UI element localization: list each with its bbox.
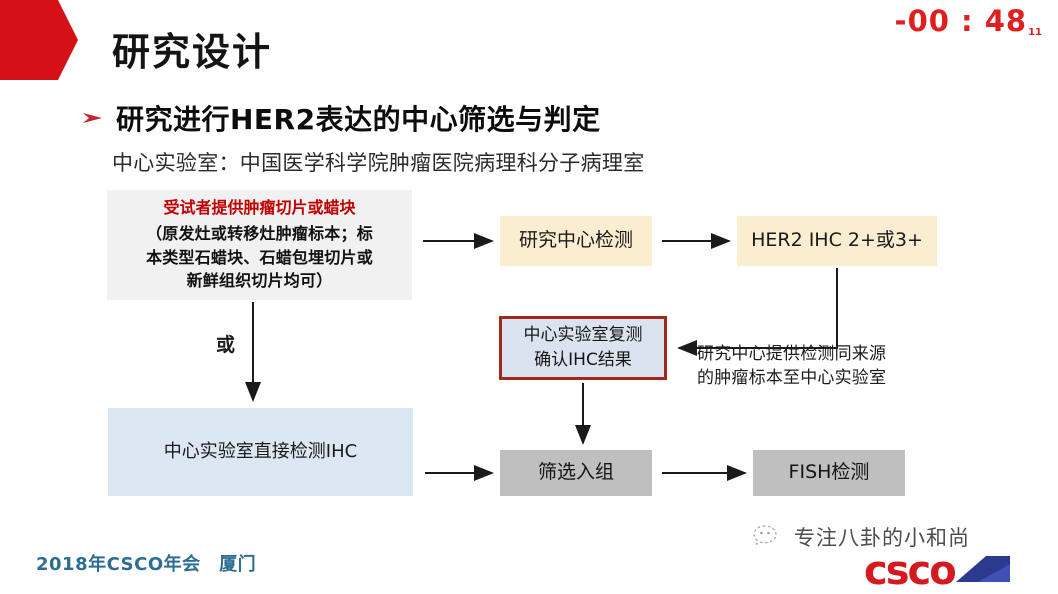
center-testing-label: 研究中心检测 [519, 227, 633, 255]
box-sample-provision: 受试者提供肿瘤切片或蜡块 （原发灶或转移灶肿瘤标本；标 本类型石蜡块、石蜡包埋切… [107, 190, 412, 300]
annotation-line2: 的肿瘤标本至中心实验室 [697, 367, 886, 391]
sample-headline: 受试者提供肿瘤切片或蜡块 [163, 196, 355, 219]
sample-body-line1: （原发灶或转移灶肿瘤标本；标 [146, 222, 373, 245]
sample-body-line2: 本类型石蜡块、石蜡包埋切片或 [146, 246, 373, 269]
sample-transfer-annotation: 研究中心提供检测同来源 的肿瘤标本至中心实验室 [697, 343, 886, 391]
box-screening-enrollment: 筛选入组 [500, 450, 652, 496]
wechat-icon [752, 523, 786, 551]
box-fish-testing: FISH检测 [753, 450, 905, 496]
slide-canvas: -00 : 4811 研究设计 研究进行HER2表达的中心筛选与判定 中心实验室… [0, 0, 1058, 594]
flowchart: 受试者提供肿瘤切片或蜡块 （原发灶或转移灶肿瘤标本；标 本类型石蜡块、石蜡包埋切… [0, 0, 1058, 594]
arrow-her2-to-relab [679, 268, 837, 348]
box-her2-result: HER2 IHC 2+或3+ [737, 216, 937, 266]
csco-logo: csco [860, 548, 1020, 592]
annotation-line1: 研究中心提供检测同来源 [697, 343, 886, 367]
box-center-testing: 研究中心检测 [500, 216, 652, 266]
box-central-lab-retest: 中心实验室复测 确认IHC结果 [499, 316, 667, 380]
sample-body-line3: 新鲜组织切片均可） [187, 269, 333, 292]
her2-result-label: HER2 IHC 2+或3+ [751, 227, 923, 255]
enrollment-label: 筛选入组 [538, 459, 614, 487]
fish-label: FISH检测 [789, 459, 870, 487]
relab-line1: 中心实验室复测 [524, 323, 643, 349]
direct-ihc-label: 中心实验室直接检测IHC [164, 439, 357, 465]
footer-conference-label: 2018年CSCO年会 厦门 [36, 550, 256, 576]
box-direct-ihc: 中心实验室直接检测IHC [108, 408, 413, 496]
relab-line2: 确认IHC结果 [534, 348, 632, 374]
or-label: 或 [216, 330, 235, 357]
csco-logo-text: csco [864, 548, 955, 592]
